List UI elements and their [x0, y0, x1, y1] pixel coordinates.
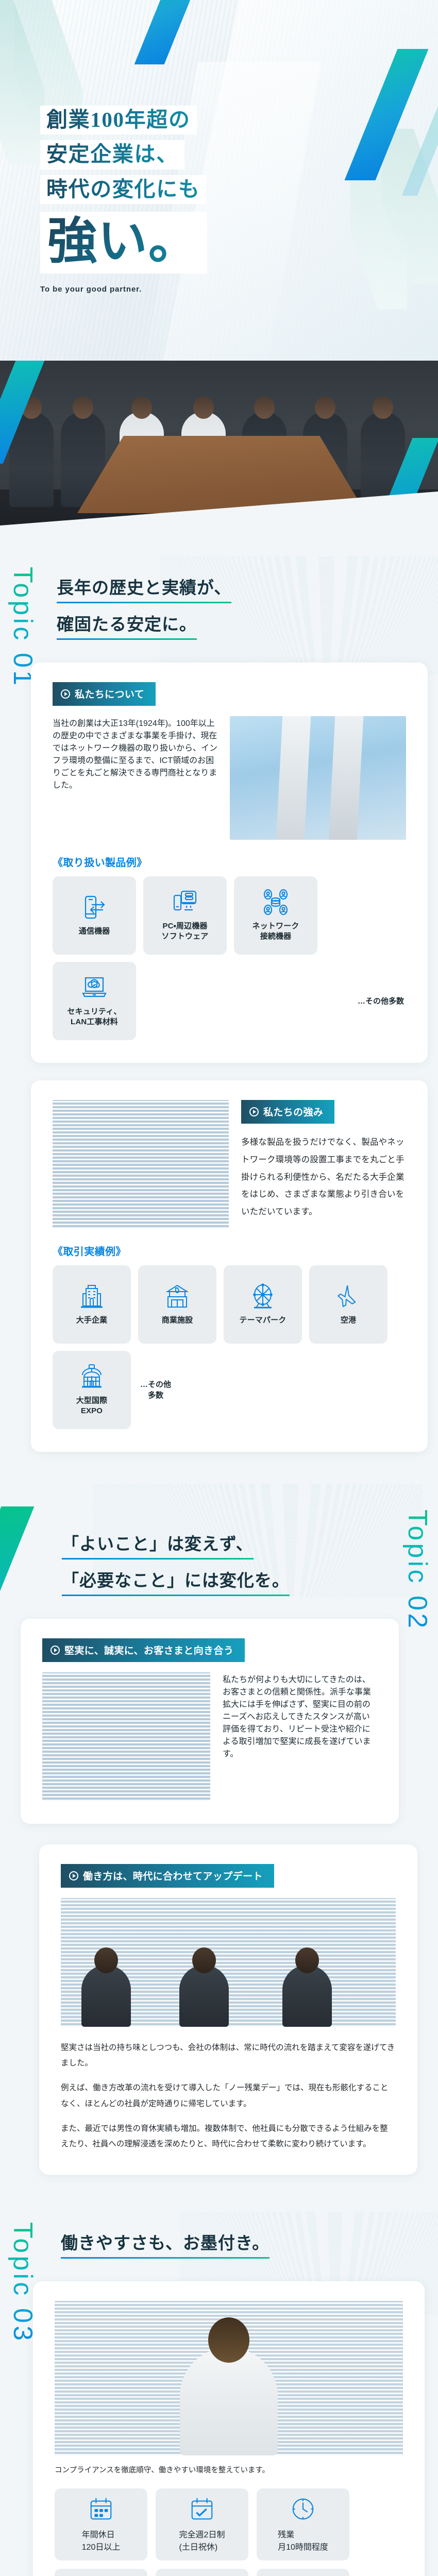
benefit-label: 完全週2日制 (土日祝休): [179, 2528, 225, 2552]
client-label: 商業施設: [162, 1315, 193, 1326]
customer-band-label: 堅実に、誠実に、お客さまと向き合う: [64, 1643, 233, 1657]
topic-01-strength-card: 私たちの強み 多様な製品を扱うだけでなく、製品やネットワーク環境等の設置工事まで…: [31, 1080, 428, 1452]
products-grid: 通信機器 PC・周辺機器 ソフトウェア: [53, 876, 406, 1040]
products-more-label: …その他多数: [356, 996, 406, 1007]
topic-01-section: Topic 01 長年の歴史と実績が、 確固たる安定に。 私たちについて 当社の…: [0, 551, 438, 1484]
mobile-exchange-icon: [80, 893, 108, 921]
hero-headline-line-2: 安定企業は、: [40, 140, 184, 169]
about-us-band: 私たちについて: [53, 682, 156, 706]
product-label: PC・周辺機器 ソフトウェア: [162, 921, 209, 942]
customer-text: 私たちが何よりも大切にしてきたのは、お客さまとの信頼と関係性。派手な事業拡大には…: [223, 1672, 377, 1759]
play-circle-icon: [61, 689, 70, 699]
benefit-label: 年間休日 120日以上: [82, 2528, 121, 2552]
product-tile-communication[interactable]: 通信機器: [53, 876, 136, 955]
topic-02-heading-line-2: 「必要なこと」には変化を。: [62, 1567, 290, 1596]
topic-03-card: コンプライアンスを徹底順守、働きやすい環境を整えています。 年間休日 120日以…: [33, 2281, 425, 2576]
topic-02-heading-line-1: 「よいこと」は変えず、: [62, 1530, 254, 1560]
strength-band-label: 私たちの強み: [263, 1105, 323, 1118]
office-building-icon: [78, 1282, 106, 1310]
benefit-tile-two-day-week[interactable]: 完全週2日制 (土日祝休): [156, 2488, 248, 2561]
workstyle-paragraph-3: また、最近では男性の育休実績も増加。複数体制で、他社員にも分散できるよう仕組みを…: [61, 2121, 396, 2152]
calendar-check-icon: [189, 2496, 215, 2522]
benefit-tile-no-relocation[interactable]: 転勤なし: [55, 2569, 147, 2576]
hero-headline-emphasis: 強い。: [40, 212, 207, 274]
customer-meeting-photo: [42, 1672, 210, 1801]
hero-headline-line-1: 創業100年超の: [40, 106, 197, 134]
hero-section: 創業100年超の 安定企業は、 時代の変化にも 強い。 To be your g…: [0, 0, 438, 361]
clients-more-label: …その他 多数: [138, 1379, 173, 1401]
airplane-icon: [334, 1282, 362, 1310]
team-photo-band: [0, 361, 438, 551]
topic-01-heading-line-2: 確固たる安定に。: [57, 611, 197, 640]
clients-label: 《取引実績例》: [53, 1243, 406, 1258]
laptop-cloud-shield-icon: [80, 974, 108, 1002]
employee-figure: [81, 1965, 131, 2027]
play-circle-icon: [249, 1107, 259, 1116]
benefit-tile-overtime[interactable]: 残業 月10時間程度: [257, 2488, 349, 2561]
benefit-tile-annual-holidays[interactable]: 年間休日 120日以上: [55, 2488, 147, 2561]
topic-03-heading-line-1: 働きやすさも、お墨付き。: [61, 2229, 269, 2259]
landing-page: 創業100年超の 安定企業は、 時代の変化にも 強い。 To be your g…: [0, 0, 438, 2576]
topic-02-heading: 「よいこと」は変えず、 「必要なこと」には変化を。: [0, 1484, 438, 1619]
strength-row: 私たちの強み 多様な製品を扱うだけでなく、製品やネットワーク環境等の設置工事まで…: [53, 1100, 406, 1229]
customer-row: 私たちが何よりも大切にしてきたのは、お客さまとの信頼と関係性。派手な事業拡大には…: [42, 1672, 377, 1801]
product-tile-pc[interactable]: PC・周辺機器 ソフトウェア: [143, 876, 227, 955]
hero-tagline: To be your good partner.: [40, 285, 207, 294]
product-tile-security[interactable]: セキュリティ、 LAN工事材料: [53, 962, 136, 1040]
desktop-server-icon: [171, 888, 199, 916]
strength-text: 多様な製品を扱うだけでなく、製品やネットワーク環境等の設置工事までを丸ごと手掛け…: [241, 1134, 406, 1221]
topic-03-caption: コンプライアンスを徹底順守、働きやすい環境を整えています。: [55, 2464, 403, 2477]
client-label: 大型国際 EXPO: [76, 1396, 108, 1417]
clients-grid: 大手企業 商業施設: [53, 1265, 406, 1429]
product-label: ネットワーク 接続機器: [252, 921, 299, 942]
workstyle-paragraph-1: 堅実さは当社の持ち味としつつも、会社の体制は、常に時代の流れを踏まえて変容を遂げ…: [61, 2040, 396, 2071]
benefit-tile-retirement[interactable]: 退職金 制度あり: [156, 2569, 248, 2576]
company-signboard-photo: [230, 716, 406, 840]
topic-01-card: 私たちについて 当社の創業は大正13年(1924年)。100年以上の歴史の中でさ…: [31, 663, 428, 1063]
strength-band: 私たちの強み: [241, 1100, 334, 1124]
topic-02-workstyle-card: 働き方は、時代に合わせてアップデート 堅実さは当社の持ち味としつつも、会社の体制…: [39, 1844, 417, 2175]
topic-03-heading: 働きやすさも、お墨付き。: [0, 2212, 438, 2281]
topic-02-customer-card: 堅実に、誠実に、お客さまと向き合う 私たちが何よりも大切にしてきたのは、お客さま…: [21, 1619, 399, 1824]
client-tile-expo[interactable]: 大型国際 EXPO: [53, 1351, 131, 1429]
product-label: セキュリティ、 LAN工事材料: [67, 1007, 121, 1028]
strength-text-col: 私たちの強み 多様な製品を扱うだけでなく、製品やネットワーク環境等の設置工事まで…: [241, 1100, 406, 1221]
workstyle-photo: [61, 1898, 396, 2027]
client-tile-major-company[interactable]: 大手企業: [53, 1265, 131, 1344]
client-tile-commercial[interactable]: 商業施設: [138, 1265, 216, 1344]
expo-dome-icon: [78, 1363, 106, 1391]
client-label: 大手企業: [76, 1315, 108, 1326]
topic-01-heading: 長年の歴史と実績が、 確固たる安定に。: [0, 551, 438, 663]
product-tile-network[interactable]: ネットワーク 接続機器: [234, 876, 317, 955]
play-circle-icon: [50, 1646, 60, 1655]
hero-copy: 創業100年超の 安定企業は、 時代の変化にも 強い。 To be your g…: [40, 106, 207, 294]
benefit-label: 残業 月10時間程度: [278, 2528, 328, 2552]
employee-figure: [282, 1965, 332, 2027]
client-tile-airport[interactable]: 空港: [309, 1265, 388, 1344]
topic-01-heading-line-1: 長年の歴史と実績が、: [57, 574, 231, 603]
network-users-icon: [262, 888, 290, 916]
workstyle-band-label: 働き方は、時代に合わせてアップデート: [83, 1869, 263, 1883]
clock-icon: [290, 2496, 316, 2522]
products-label: 《取り扱い製品例》: [53, 854, 406, 869]
topic-02-section: Topic 02 「よいこと」は変えず、 「必要なこと」には変化を。 堅実に、誠…: [0, 1484, 438, 2212]
employee-portrait-photo: [55, 2301, 403, 2455]
employee-figure: [180, 2347, 278, 2455]
benefit-tile-hourly-paid-leave[interactable]: 時間単位 有給休暇: [257, 2569, 349, 2576]
play-circle-icon: [69, 1871, 78, 1880]
about-us-row: 当社の創業は大正13年(1924年)。100年以上の歴史の中でさまざまな事業を手…: [53, 716, 406, 840]
client-label: テーマパーク: [240, 1315, 287, 1326]
customer-band: 堅実に、誠実に、お客さまと向き合う: [42, 1638, 245, 1662]
employee-figure: [179, 1965, 229, 2027]
calendar-icon: [88, 2496, 114, 2522]
topic-03-section: Topic 03 働きやすさも、お墨付き。 コンプライアンスを徹底順守、働きやす…: [0, 2212, 438, 2576]
shop-icon: [163, 1282, 191, 1310]
hero-headline-line-3: 時代の変化にも: [40, 175, 206, 204]
about-us-text: 当社の創業は大正13年(1924年)。100年以上の歴史の中でさまざまな事業を手…: [53, 716, 217, 790]
workstyle-paragraph-2: 例えば、働き方改革の流れを受けて導入した「ノー残業デー」では、現在も形骸化するこ…: [61, 2080, 396, 2111]
office-meeting-photo: [53, 1100, 229, 1229]
ferris-wheel-icon: [249, 1282, 277, 1310]
client-label: 空港: [341, 1315, 356, 1326]
about-us-band-label: 私たちについて: [75, 687, 144, 701]
product-label: 通信機器: [79, 926, 110, 937]
benefits-grid: 年間休日 120日以上 完全週2日制 (土日祝休): [55, 2488, 403, 2576]
workstyle-band: 働き方は、時代に合わせてアップデート: [61, 1864, 274, 1888]
client-tile-theme-park[interactable]: テーマパーク: [224, 1265, 302, 1344]
